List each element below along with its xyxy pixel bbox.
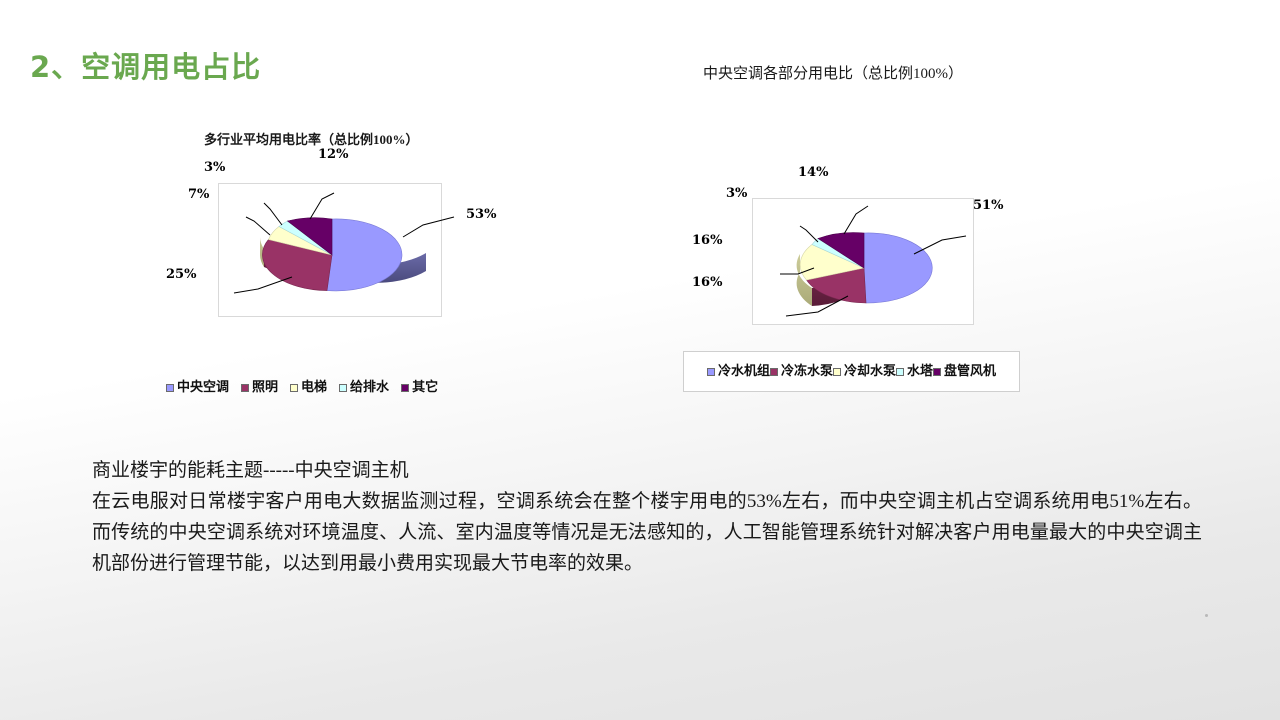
legend-item-lengdongshuibeng[interactable]: 冷冻水泵 <box>770 365 833 378</box>
leader-line-1 <box>403 217 454 237</box>
left-pie-graphic <box>218 177 458 337</box>
body-paragraph: 在云电服对日常楼宇客户用电大数据监测过程，空调系统会在整个楼宇用电的53%左右，… <box>92 486 1202 579</box>
legend-swatch-icon <box>401 384 409 392</box>
left-callout-5: 12% <box>318 147 348 162</box>
right-callout-4: 3% <box>726 186 747 201</box>
legend-label: 其它 <box>412 381 438 394</box>
legend-label: 盘管风机 <box>944 365 996 378</box>
leader-line-3 <box>246 217 270 235</box>
legend-label: 水塔 <box>907 365 933 378</box>
right-chart-title: 中央空调各部分用电比（总比例100%） <box>703 62 963 83</box>
right-pie-graphic <box>752 192 992 352</box>
left-chart-title: 多行业平均用电比率（总比例100%） <box>204 129 419 148</box>
legend-label: 电梯 <box>301 381 327 394</box>
legend-item-qita[interactable]: 其它 <box>401 381 438 394</box>
legend-item-shuita[interactable]: 水塔 <box>896 365 933 378</box>
legend-item-zhaoming[interactable]: 照明 <box>241 381 278 394</box>
legend-swatch-icon <box>896 368 904 376</box>
legend-item-zhongyangkongtiao[interactable]: 中央空调 <box>166 381 229 394</box>
right-chart-legend: 冷水机组 冷冻水泵 冷却水泵 水塔 盘管风机 <box>683 351 1020 392</box>
legend-swatch-icon <box>241 384 249 392</box>
leader-line-5 <box>310 193 334 219</box>
legend-item-lengshuijizu[interactable]: 冷水机组 <box>707 365 770 378</box>
left-callout-4: 3% <box>204 160 225 175</box>
legend-label: 中央空调 <box>177 381 229 394</box>
legend-label: 冷却水泵 <box>844 365 896 378</box>
body-lead-line: 商业楼宇的能耗主题-----中央空调主机 <box>92 455 1202 486</box>
legend-item-lengqueshuibeng[interactable]: 冷却水泵 <box>833 365 896 378</box>
legend-label: 给排水 <box>350 381 389 394</box>
right-callout-1: 51% <box>973 198 1003 213</box>
left-callout-1: 53% <box>466 207 496 222</box>
legend-label: 冷冻水泵 <box>781 365 833 378</box>
right-pie-chart: 51% 16% 16% 3% 14% <box>690 165 1040 350</box>
left-callout-3: 7% <box>188 187 209 202</box>
leader-line-4 <box>264 203 282 225</box>
left-callout-2: 25% <box>166 267 196 282</box>
legend-swatch-icon <box>833 368 841 376</box>
decorative-dot <box>1205 614 1208 617</box>
legend-swatch-icon <box>290 384 298 392</box>
slide-canvas: 2、空调用电占比 中央空调各部分用电比（总比例100%） 多行业平均用电比率（总… <box>0 0 1280 720</box>
legend-swatch-icon <box>707 368 715 376</box>
legend-swatch-icon <box>166 384 174 392</box>
leader-line-5 <box>844 206 868 234</box>
right-callout-5: 14% <box>798 165 828 180</box>
page-title: 2、空调用电占比 <box>30 44 261 86</box>
legend-swatch-icon <box>770 368 778 376</box>
legend-item-dianti[interactable]: 电梯 <box>290 381 327 394</box>
body-text-block: 商业楼宇的能耗主题-----中央空调主机 在云电服对日常楼宇客户用电大数据监测过… <box>92 455 1202 579</box>
left-pie-chart: 多行业平均用电比率（总比例100%） <box>160 145 520 345</box>
leader-line-4 <box>800 226 818 242</box>
legend-swatch-icon <box>339 384 347 392</box>
legend-item-panguanfengji[interactable]: 盘管风机 <box>933 365 996 378</box>
legend-label: 冷水机组 <box>718 365 770 378</box>
legend-item-jipaishui[interactable]: 给排水 <box>339 381 389 394</box>
legend-label: 照明 <box>252 381 278 394</box>
right-callout-3: 16% <box>692 233 722 248</box>
left-chart-legend: 中央空调 照明 电梯 给排水 其它 <box>166 381 450 394</box>
legend-swatch-icon <box>933 368 941 376</box>
pie-slice-right-1 <box>864 233 932 303</box>
right-callout-2: 16% <box>692 275 722 290</box>
